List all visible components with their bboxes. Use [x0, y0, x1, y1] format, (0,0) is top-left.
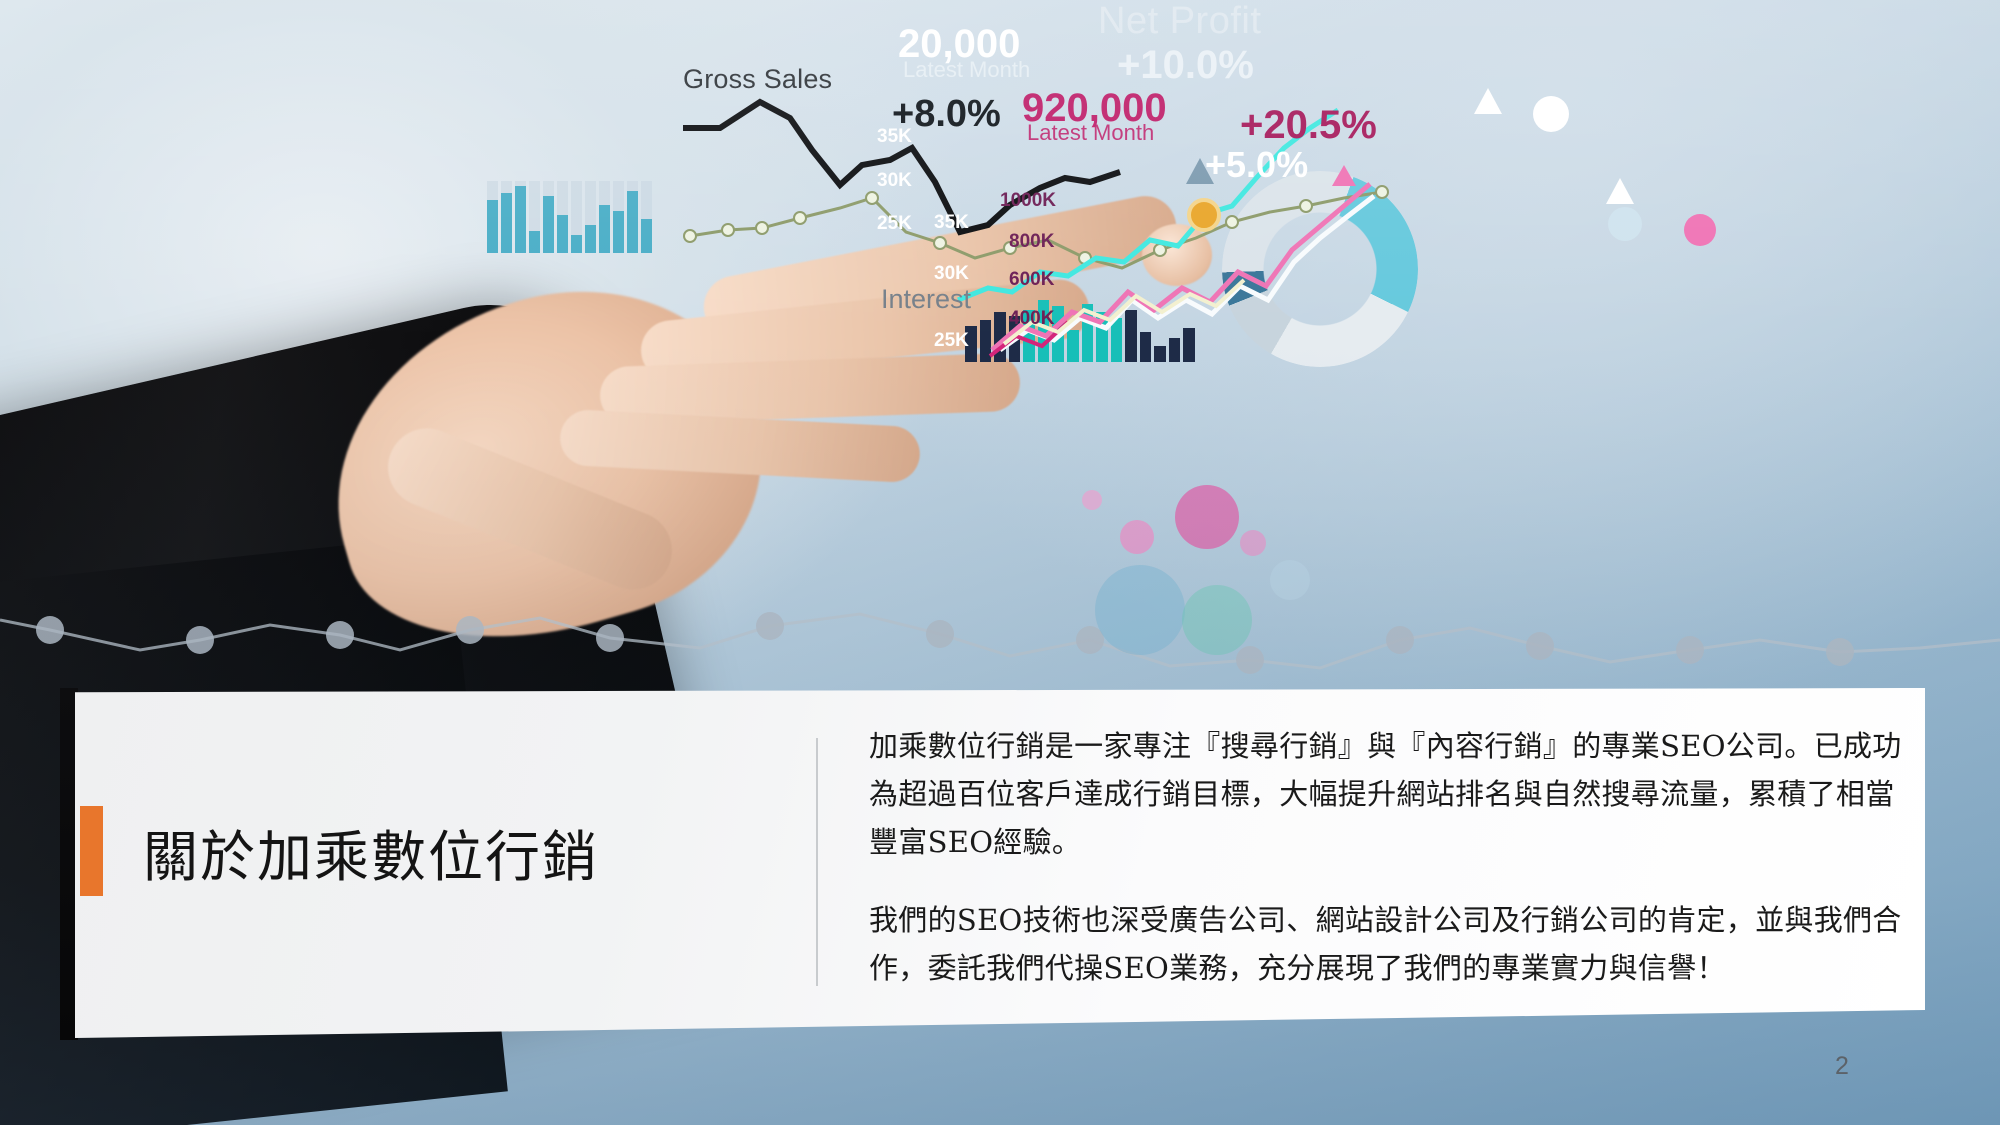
slide-canvas: Gross Sales Interest Net Profit 20,000 L…: [0, 0, 2000, 1125]
body-paragraph-2: 我們的SEO技術也深受廣告公司、網站設計公司及行銷公司的肯定，並與我們合作，委託…: [869, 896, 1909, 992]
body-paragraph-1: 加乘數位行銷是一家專注『搜尋行銷』與『內容行銷』的專業SEO公司。已成功為超過百…: [869, 722, 1909, 866]
page-title: 關於加乘數位行銷: [143, 812, 599, 892]
body-text-column: 加乘數位行銷是一家專注『搜尋行銷』與『內容行銷』的專業SEO公司。已成功為超過百…: [869, 722, 1909, 992]
vertical-divider: [816, 738, 818, 986]
page-number: 2: [1835, 1052, 1849, 1081]
title-accent-bar: [80, 806, 103, 896]
